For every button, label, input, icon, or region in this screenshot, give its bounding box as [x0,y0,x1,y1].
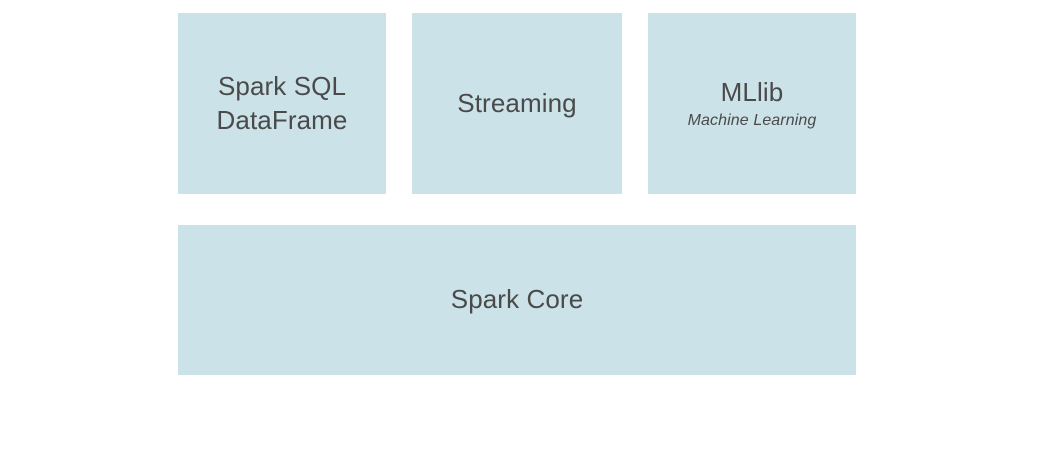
diagram-box-spark-core-title: Spark Core [451,283,584,316]
diagram-box-spark-sql[interactable]: Spark SQL DataFrame [178,13,386,194]
diagram-box-spark-core[interactable]: Spark Core [178,225,856,375]
diagram-box-mllib[interactable]: MLlib Machine Learning [648,13,856,194]
diagram-box-mllib-title: MLlib [721,76,784,109]
diagram-box-streaming[interactable]: Streaming [412,13,622,194]
diagram-box-mllib-subtitle: Machine Learning [688,111,817,132]
diagram-box-mllib-label-group: MLlib Machine Learning [688,76,817,132]
diagram-canvas: Spark SQL DataFrame Streaming MLlib Mach… [0,0,1053,457]
diagram-box-streaming-title: Streaming [457,87,576,120]
diagram-box-spark-sql-title: Spark SQL DataFrame [217,70,348,136]
